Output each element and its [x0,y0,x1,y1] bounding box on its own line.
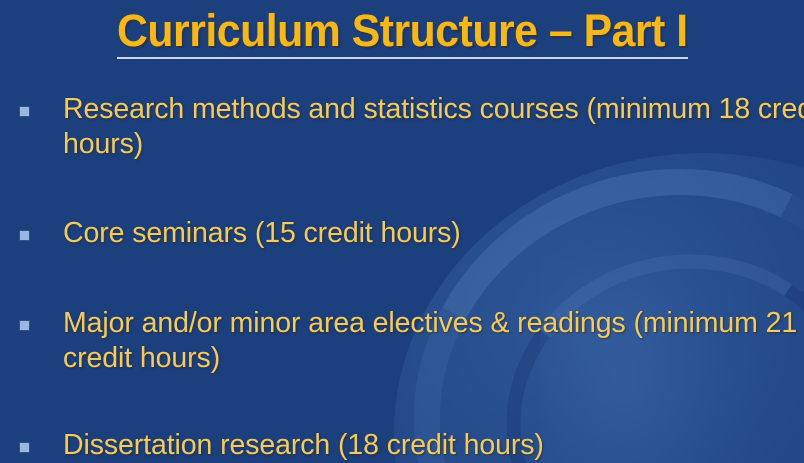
list-item-label: Research methods and statistics courses … [63,92,804,162]
list-spacer [0,252,804,306]
list-spacer [0,376,804,428]
square-bullet-icon [20,321,29,330]
list-item: Research methods and statistics courses … [0,92,804,162]
list-item: Dissertation research (18 credit hours) [0,428,804,463]
square-bullet-icon [20,443,29,452]
list-item-label: Dissertation research (18 credit hours) [63,428,804,463]
list-spacer [0,162,804,216]
slide-title: Curriculum Structure – Part I [117,6,688,59]
list-item: Major and/or minor area electives & read… [0,306,804,376]
list-item-label: Core seminars (15 credit hours) [63,216,804,251]
square-bullet-icon [20,231,29,240]
list-item-label: Major and/or minor area electives & read… [63,306,804,376]
bullet-list: Research methods and statistics courses … [0,92,804,463]
presentation-slide: Curriculum Structure – Part I Research m… [0,0,804,463]
slide-title-block: Curriculum Structure – Part I [0,6,804,59]
square-bullet-icon [20,107,29,116]
list-item: Core seminars (15 credit hours) [0,216,804,252]
